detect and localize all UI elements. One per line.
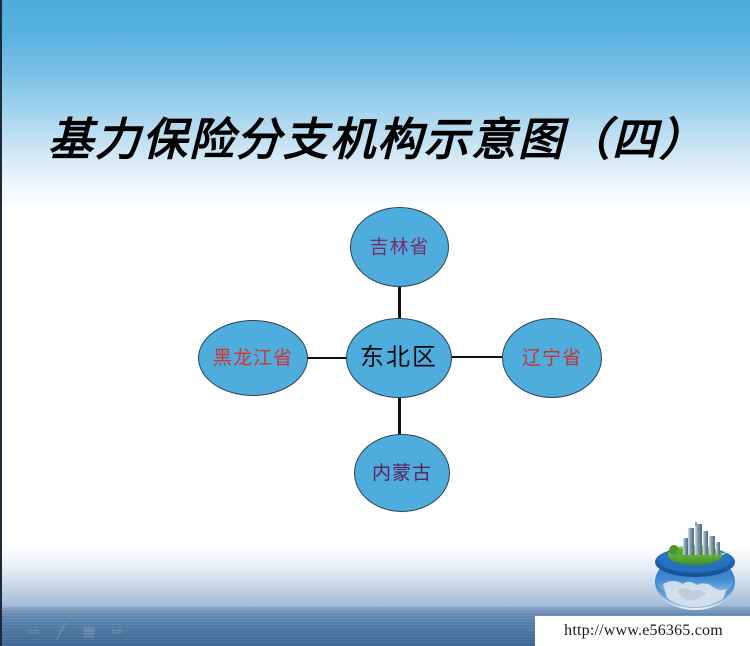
node-neimenggu[interactable]: 内蒙古 [354,434,450,512]
node-dongbei-region-label: 东北区 [360,346,438,370]
watermark-url[interactable]: http://www.e56365.com [564,622,723,640]
pen-icon[interactable]: ╱ [52,626,70,640]
page-icon[interactable]: ▦ [80,626,98,640]
edge-center-to-hlj [302,357,350,359]
node-heilongjiang[interactable]: 黑龙江省 [198,320,308,396]
node-liaoning-label: 辽宁省 [522,349,582,368]
globe-city-logo [647,522,743,614]
presentation-slide: 基力保险分支机构示意图（四） 吉林省 黑龙江省 东北区 辽宁省 内蒙古 [0,0,750,646]
edge-center-to-neimeng [398,393,401,439]
node-jilin[interactable]: 吉林省 [350,207,449,287]
edge-center-to-liaoning [448,356,504,358]
back-arrow-icon[interactable]: ⇦ [24,626,42,640]
slideshow-nav-toolbar[interactable]: ⇦ ╱ ▦ ⇨ [24,626,126,640]
node-dongbei-region[interactable]: 东北区 [346,318,452,398]
node-heilongjiang-label: 黑龙江省 [213,349,293,368]
watermark-url-bar: http://www.e56365.com [535,616,750,646]
forward-arrow-icon[interactable]: ⇨ [108,626,126,640]
node-neimenggu-label: 内蒙古 [372,464,432,483]
node-liaoning[interactable]: 辽宁省 [502,318,602,398]
org-diagram: 吉林省 黑龙江省 东北区 辽宁省 内蒙古 [2,0,750,646]
edge-center-to-jilin [398,283,401,323]
node-jilin-label: 吉林省 [369,238,429,257]
